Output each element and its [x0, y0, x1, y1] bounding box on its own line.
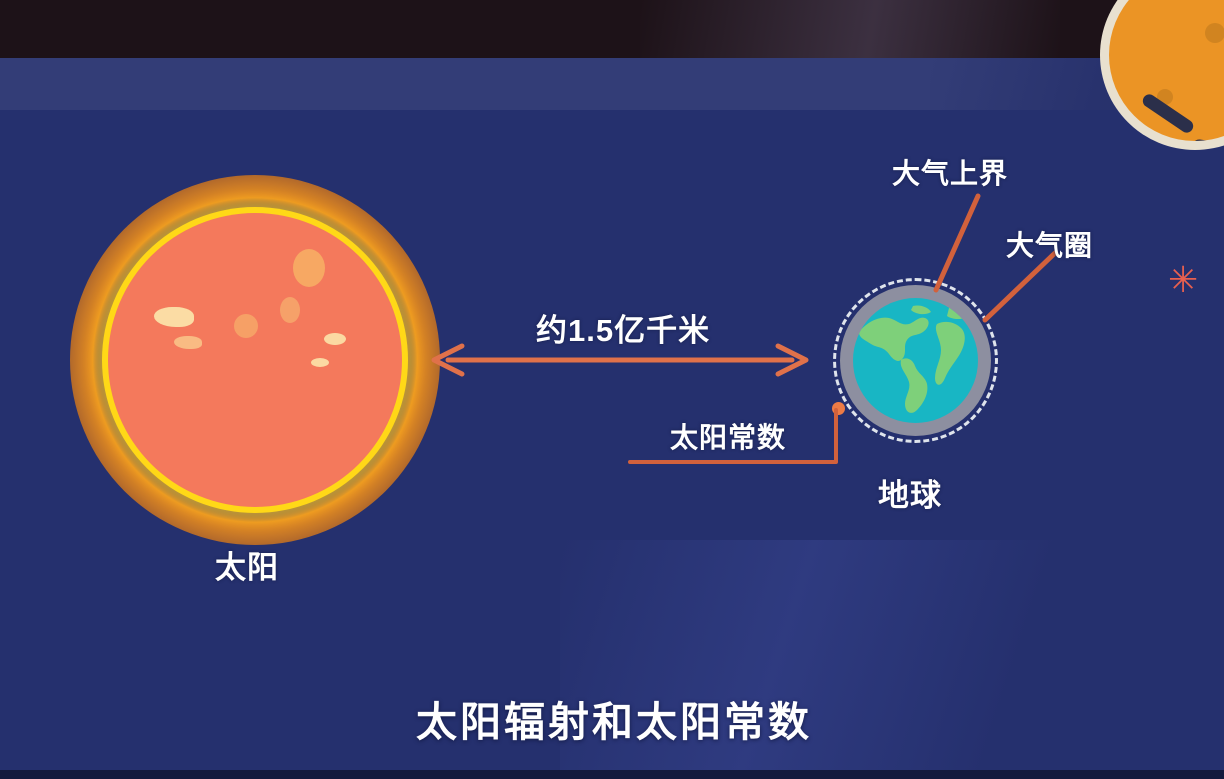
sun-spot	[174, 336, 202, 349]
letterbox-bottom-bar	[0, 770, 1224, 779]
sun-spot	[154, 307, 194, 327]
label-sun: 太阳	[215, 542, 279, 587]
planet-face-icon	[1100, 0, 1224, 150]
label-earth: 地球	[878, 470, 942, 515]
sun-spot	[293, 249, 325, 287]
page-title: 太阳辐射和太阳常数	[416, 688, 812, 748]
label-atmosphere: 大气圈	[1006, 224, 1093, 264]
diagram-canvas: ✳ 约1.5亿千米 太阳 地球 大气上界 大气圈 太阳常数 太阳辐射和太阳常数	[0, 0, 1224, 779]
label-distance: 约1.5亿千米	[536, 305, 710, 350]
planet-crater	[1205, 23, 1224, 43]
sun-spot	[324, 333, 346, 345]
sun-spot	[234, 314, 258, 338]
sun-icon	[70, 175, 440, 545]
star-icon: ✳	[1168, 262, 1198, 298]
earth-globe-icon	[833, 278, 998, 443]
sun-spot	[311, 358, 329, 367]
earth-continents	[853, 298, 978, 423]
label-solar-constant: 太阳常数	[670, 416, 786, 456]
sun-spot	[280, 297, 300, 323]
sun-disc	[108, 213, 402, 507]
earth-surface	[853, 298, 978, 423]
label-atmosphere-upper-limit: 大气上界	[892, 152, 1008, 192]
letterbox-top-sheen	[640, 0, 1060, 58]
solar-constant-point	[832, 402, 845, 415]
